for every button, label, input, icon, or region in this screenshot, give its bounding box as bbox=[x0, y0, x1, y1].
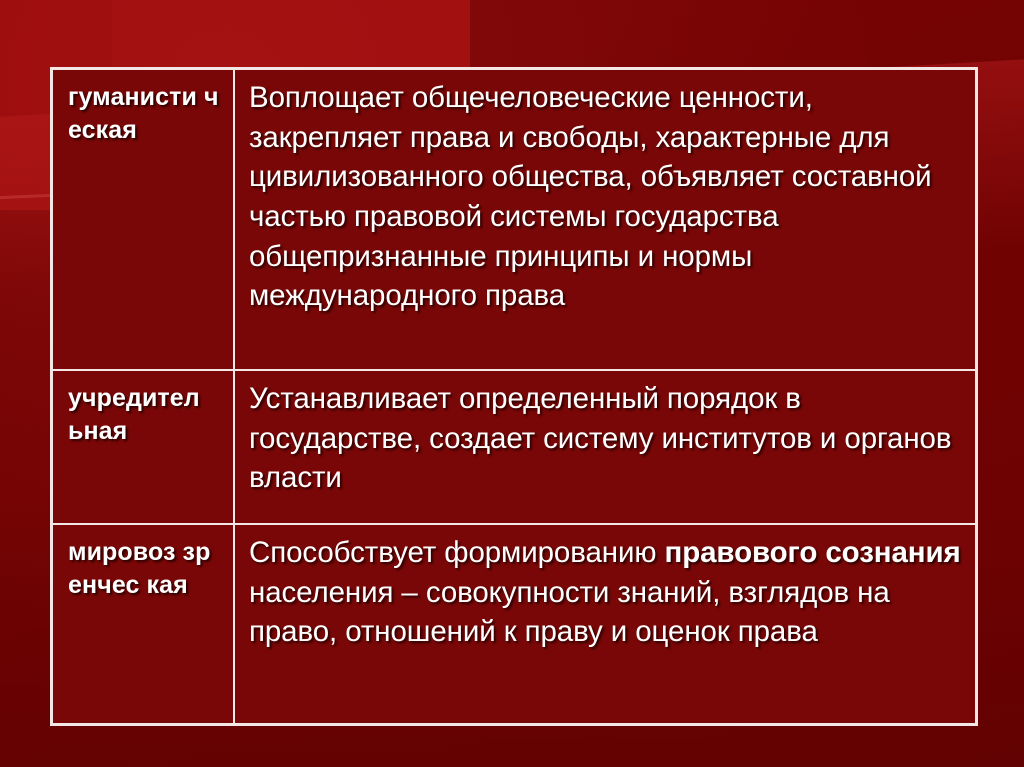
table-row: мировоз зренчес кая Способствует формиро… bbox=[52, 524, 977, 725]
function-name-label: учредител ьная bbox=[68, 382, 219, 447]
description-suffix: населения – совокупности знаний, взглядо… bbox=[249, 576, 890, 649]
description-prefix: Воплощает общечеловеческие ценности, зак… bbox=[249, 81, 932, 312]
table-cell-function-name: гуманисти ческая bbox=[52, 69, 235, 371]
function-description-text: Устанавливает определенный порядок в гос… bbox=[249, 379, 965, 498]
table-row: учредител ьная Устанавливает определенны… bbox=[52, 370, 977, 524]
table-cell-function-name: мировоз зренчес кая bbox=[52, 524, 235, 725]
slide-canvas: гуманисти ческая Воплощает общечеловечес… bbox=[0, 0, 1024, 767]
table-cell-function-name: учредител ьная bbox=[52, 370, 235, 524]
description-prefix: Способствует формированию bbox=[249, 536, 664, 569]
table-cell-description: Воплощает общечеловеческие ценности, зак… bbox=[234, 69, 977, 371]
table-cell-description: Устанавливает определенный порядок в гос… bbox=[234, 370, 977, 524]
function-description-text: Способствует формированию правового созн… bbox=[249, 533, 965, 652]
table-cell-description: Способствует формированию правового созн… bbox=[234, 524, 977, 725]
function-description-text: Воплощает общечеловеческие ценности, зак… bbox=[249, 78, 965, 316]
description-prefix: Устанавливает определенный порядок в гос… bbox=[249, 382, 951, 494]
function-name-label: гуманисти ческая bbox=[68, 81, 219, 146]
table-row: гуманисти ческая Воплощает общечеловечес… bbox=[52, 69, 977, 371]
description-bold: правового сознания bbox=[664, 536, 960, 569]
function-name-label: мировоз зренчес кая bbox=[68, 536, 219, 601]
functions-table: гуманисти ческая Воплощает общечеловечес… bbox=[50, 67, 978, 726]
